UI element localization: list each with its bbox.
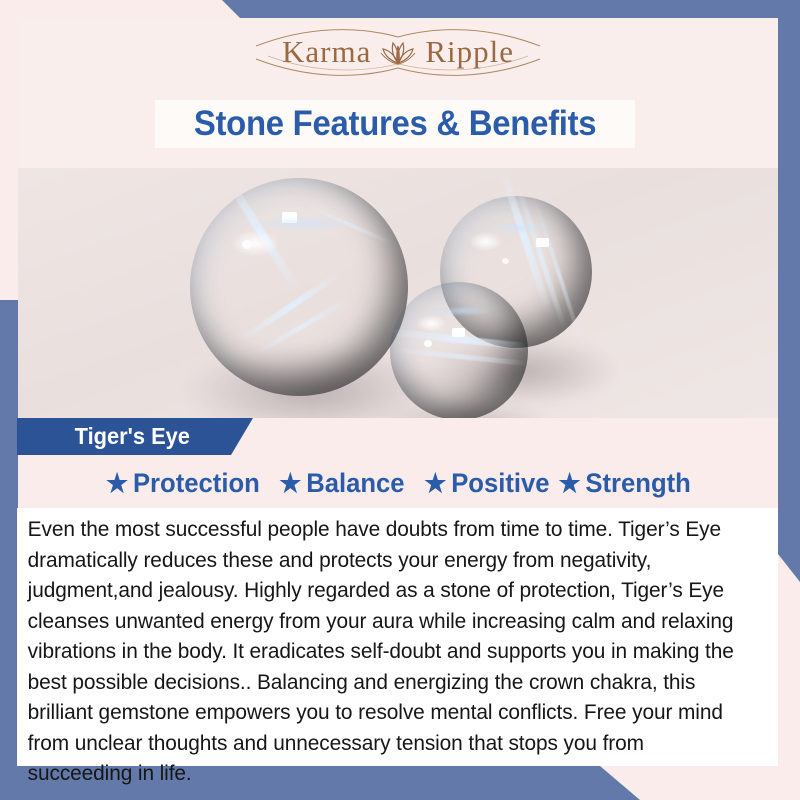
benefit-item-protection: ★ Protection [106,468,260,499]
benefits-row: ★ Protection ★ Balance ★ Positive ★ Stre… [18,460,778,506]
lotus-icon [377,37,419,67]
stone-name-label: Tiger's Eye [21,423,190,450]
stone-name-banner: Tiger's Eye [17,418,253,455]
benefit-item-positive: ★ Positive [425,468,550,499]
star-icon: ★ [425,470,447,496]
benefit-item-strength: ★ Strength [559,468,691,499]
gemstone-photo [18,168,778,418]
benefit-label: Balance [307,468,405,499]
brand-wordmark: Karma Ripple [282,36,514,67]
benefit-label: Strength [586,468,691,499]
page-title: Stone Features & Benefits [194,104,596,144]
frame-left-accent [0,300,18,770]
brand-name-left: Karma [282,36,371,67]
gemstone-bead [390,282,528,418]
stone-description: Even the most successful people have dou… [17,508,755,789]
brand-logo: Karma Ripple [18,32,778,71]
description-panel: Even the most successful people have dou… [17,508,778,766]
star-icon: ★ [106,470,128,496]
brand-name-right: Ripple [425,36,514,67]
benefit-label: Positive [451,468,549,499]
infographic-poster: Karma Ripple [0,0,800,800]
frame-right-accent [778,30,800,582]
title-band: Stone Features & Benefits [155,100,635,148]
gemstone-bead [190,178,408,396]
star-icon: ★ [280,470,302,496]
benefit-label: Protection [133,468,260,499]
benefit-item-balance: ★ Balance [280,468,405,499]
star-icon: ★ [559,470,581,496]
